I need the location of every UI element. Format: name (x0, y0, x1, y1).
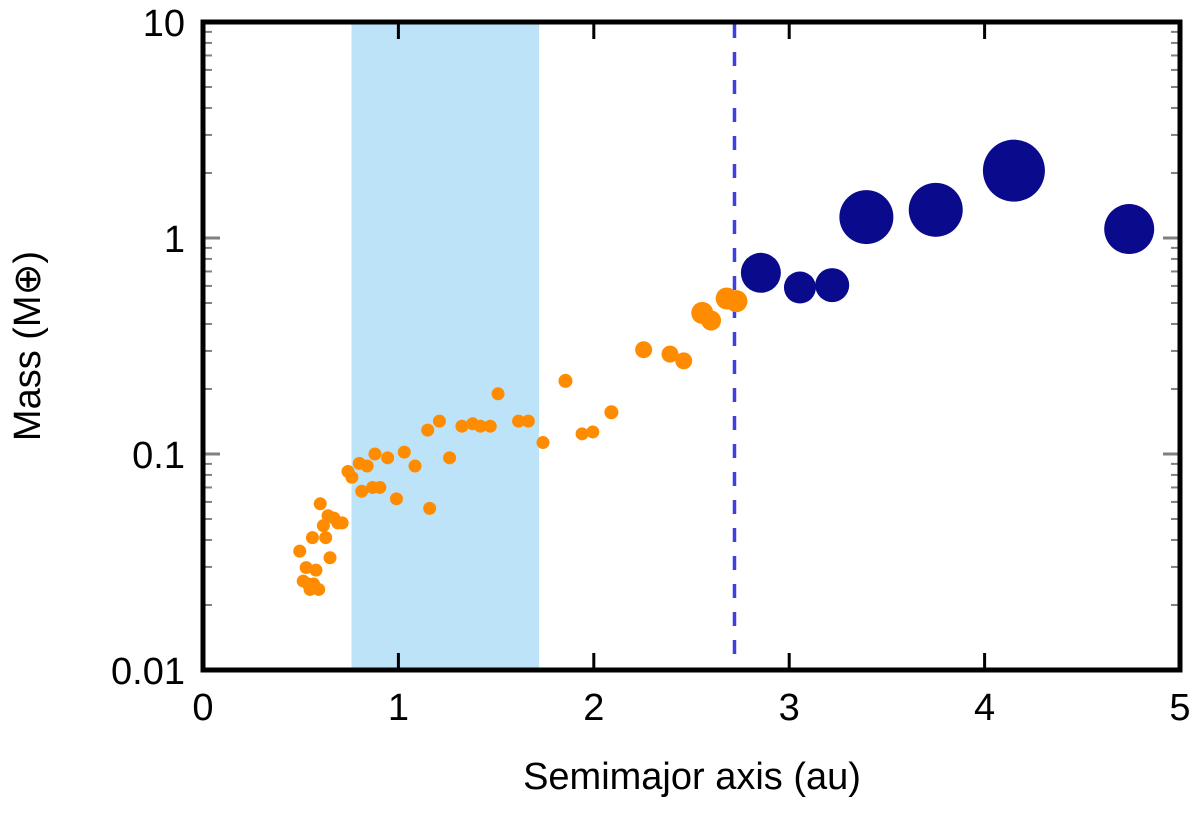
y-axis-title: Mass (M⊕) (7, 251, 49, 441)
data-point (306, 531, 319, 544)
data-point (361, 459, 374, 472)
data-point (421, 424, 434, 437)
data-point (324, 551, 337, 564)
x-tick-label: 5 (1169, 687, 1190, 729)
x-tick-label: 2 (583, 687, 604, 729)
data-point (433, 415, 446, 428)
data-point (398, 446, 411, 459)
data-point (784, 272, 816, 304)
data-point (675, 352, 692, 369)
data-point (443, 451, 456, 464)
data-point (309, 564, 322, 577)
data-point (604, 405, 618, 419)
data-point (701, 311, 721, 331)
data-point (390, 492, 403, 505)
data-point (319, 531, 332, 544)
scatter-plot-figure: 0.010.1110 012345 Semimajor axis (au) Ma… (0, 0, 1200, 808)
data-point (345, 471, 358, 484)
data-point (381, 451, 394, 464)
data-point (815, 268, 849, 302)
x-tick-label: 4 (974, 687, 995, 729)
data-point (423, 502, 436, 515)
data-point (312, 583, 325, 596)
data-point (725, 290, 747, 312)
data-point (586, 425, 599, 438)
data-point (635, 341, 652, 358)
data-point (293, 545, 306, 558)
x-tick-label: 0 (192, 687, 213, 729)
data-point (484, 420, 497, 433)
data-point (741, 253, 781, 293)
plot-canvas: 0.010.1110 012345 Semimajor axis (au) Ma… (0, 0, 1200, 808)
data-point (314, 497, 327, 510)
data-point (368, 448, 381, 461)
data-point (909, 183, 963, 237)
data-point (492, 387, 505, 400)
data-point (455, 420, 468, 433)
x-tick-label: 3 (779, 687, 800, 729)
y-tick-label: 0.01 (111, 651, 185, 693)
data-point (373, 481, 386, 494)
data-point (409, 459, 422, 472)
data-point (336, 516, 349, 529)
data-point (537, 436, 550, 449)
y-tick-label: 0.1 (132, 435, 185, 477)
data-point (1104, 204, 1154, 254)
data-point (522, 415, 535, 428)
y-tick-label: 1 (164, 219, 185, 261)
data-point (558, 374, 572, 388)
y-tick-label: 10 (143, 3, 185, 45)
data-point (839, 190, 893, 244)
x-axis-title: Semimajor axis (au) (523, 756, 861, 798)
data-point (983, 140, 1045, 202)
x-tick-label: 1 (388, 687, 409, 729)
habitable-zone-band (352, 24, 540, 669)
habitable-zone-band (352, 24, 540, 669)
